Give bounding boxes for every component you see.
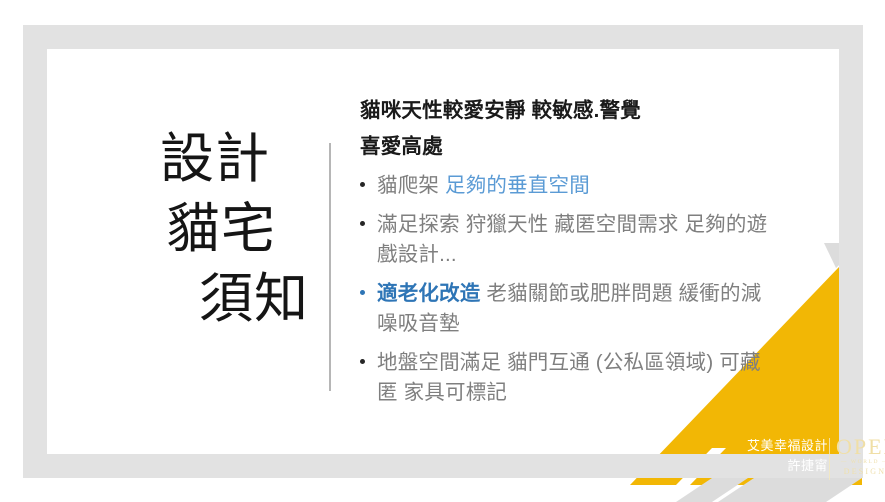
page-title-line-2: 貓宅 (160, 194, 315, 264)
footer-company: 艾美幸福設計 (700, 436, 828, 456)
bullet-dot-icon (360, 359, 365, 364)
content-column: 貓咪天性較愛安靜 較敏感.警覺 喜愛高處 貓爬架 足夠的垂直空間滿足探索 狩獵天… (360, 93, 770, 417)
vertical-divider (329, 143, 331, 391)
bullet-text-segment: 地盤空間滿足 貓門互通 (公私區領域) 可藏匿 家具可標記 (377, 351, 761, 404)
bullet-text-segment: 足夠的垂直空間 (445, 174, 590, 197)
content-heading: 貓咪天性較愛安靜 較敏感.警覺 喜愛高處 (360, 93, 770, 165)
bullet-text-segment: 貓爬架 (377, 174, 445, 197)
bullet-item: 地盤空間滿足 貓門互通 (公私區領域) 可藏匿 家具可標記 (360, 348, 770, 408)
page-title-line-3: 須知 (160, 264, 315, 334)
bullet-text-segment: 滿足探索 狩獵天性 藏匿空間需求 足夠的遊戲設計... (377, 213, 767, 266)
bullet-list: 貓爬架 足夠的垂直空間滿足探索 狩獵天性 藏匿空間需求 足夠的遊戲設計...適老… (360, 171, 770, 408)
logo-world-text: — WORLD — (836, 458, 885, 467)
bullet-dot-icon (360, 182, 365, 187)
bullet-dot-icon (360, 221, 365, 226)
bullet-text-segment: 適老化改造 (377, 282, 481, 305)
content-heading-line-2: 喜愛高處 (360, 129, 770, 165)
bullet-dot-icon (360, 290, 365, 295)
bullet-item: 滿足探索 狩獵天性 藏匿空間需求 足夠的遊戲設計... (360, 210, 770, 270)
logo-design-text: DESIGN (836, 467, 885, 477)
content-heading-line-1: 貓咪天性較愛安靜 較敏感.警覺 (360, 93, 770, 129)
footer-author: 許捷甯 (700, 456, 828, 476)
page-title-line-1: 設計 (160, 124, 315, 194)
logo-open-text: OPEN (836, 436, 885, 458)
brand-logo: OPEN — WORLD — DESIGN (836, 436, 885, 477)
bullet-item: 適老化改造 老貓關節或肥胖問題 緩衝的減噪吸音墊 (360, 279, 770, 339)
page-title: 設計 貓宅 須知 (160, 124, 315, 334)
slide-canvas: 設計 貓宅 須知 貓咪天性較愛安靜 較敏感.警覺 喜愛高處 貓爬架 足夠的垂直空… (0, 0, 885, 502)
logo-separator (829, 438, 830, 480)
footer-credit: 艾美幸福設計 許捷甯 (700, 436, 828, 476)
bullet-item: 貓爬架 足夠的垂直空間 (360, 171, 770, 201)
